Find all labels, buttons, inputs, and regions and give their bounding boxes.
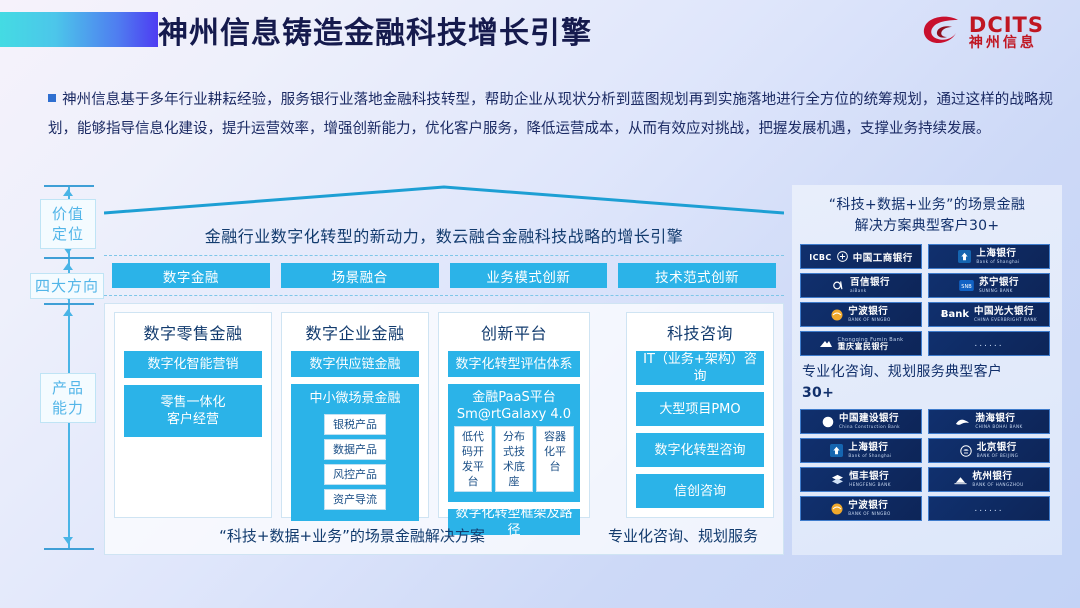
customer-logo-more-2[interactable]: ...... (928, 496, 1050, 521)
chip-risk-control-product[interactable]: 风控产品 (324, 464, 386, 485)
page-header: 神州信息铸造金融科技增长引擎 DCITS 神州信息 (0, 0, 1080, 72)
tile-it-business-architecture-consulting[interactable]: IT（业务+架构）咨询 (636, 351, 764, 385)
capability-column-retail: 数字零售金融 数字化智能营销 零售一体化 客户经营 (114, 312, 272, 518)
strategy-diagram: 金融行业数字化转型的新动力，数云融合金融科技战略的增长引擎 数字金融 场景融合 … (104, 185, 784, 555)
customer-logo-chongqing-fumin-bank[interactable]: Chongqing Fumin Bank 重庆富民银行 (800, 331, 922, 356)
ellipsis-placeholder-icon-2: ...... (974, 504, 1003, 514)
customer-logo-aibank[interactable]: 百信银行 aiBank (800, 273, 922, 298)
customer-name-bank-of-beijing: 北京银行 (977, 443, 1017, 453)
customer-name-ccb: 中国建设银行 (839, 414, 899, 424)
left-axis: 价值 定位 四大方向 产品 能力 (36, 185, 102, 550)
hengfeng-bank-logo-icon (831, 474, 844, 485)
bank-of-shanghai-logo-icon (958, 250, 971, 263)
capability-column-enterprise: 数字企业金融 数字供应链金融 中小微场景金融 银税产品 数据产品 风控产品 资产… (281, 312, 429, 518)
bullet-icon (48, 94, 56, 102)
logo-text-cn: 神州信息 (969, 36, 1044, 51)
brand-logo: DCITS 神州信息 (922, 14, 1044, 51)
tile-paas-line1: 金融PaaS平台 (452, 389, 576, 406)
customer-logo-bank-of-hangzhou[interactable]: 杭州银行 BANK OF HANGZHOU (928, 467, 1050, 492)
capability-column-tech-consulting: 科技咨询 IT（业务+架构）咨询 大型项目PMO 数字化转型咨询 信创咨询 (626, 312, 774, 518)
customer-en-suning-bank: SUNING BANK (979, 289, 1013, 293)
icbc-wordmark-icon: ICBC (809, 253, 831, 262)
dcits-swoosh-icon (922, 15, 962, 49)
chip-data-product[interactable]: 数据产品 (324, 439, 386, 460)
bank-of-ningbo-logo-icon-2 (831, 503, 843, 515)
roof-shape-icon (104, 185, 784, 215)
customer-en-hengfeng-bank: HENGFENG BANK (849, 483, 891, 487)
tile-retail-integrated-customer-ops[interactable]: 零售一体化 客户经营 (124, 385, 262, 437)
customer-en-bank-of-hangzhou: BANK OF HANGZHOU (972, 483, 1023, 487)
chongqing-fumin-bank-logo-icon (819, 339, 833, 349)
axis-label-product-capability: 产品 能力 (40, 373, 96, 423)
customer-panel: “科技+数据+业务”的场景金融 解决方案典型客户30+ ICBC 中国工商银行 … (792, 185, 1062, 555)
tile-sme-scenario-finance[interactable]: 中小微场景金融 银税产品 数据产品 风控产品 资产导流 (291, 384, 419, 521)
everbright-wordmark-icon: Ƀank (941, 309, 969, 320)
customer-logo-grid-1: ICBC 中国工商银行 上海银行 Bank of Shanghai 百信银行 a… (792, 244, 1062, 356)
customer-en-bank-of-beijing: BANK OF BEIJING (977, 454, 1019, 458)
customer-logo-icbc[interactable]: ICBC 中国工商银行 (800, 244, 922, 269)
bohai-bank-logo-icon (955, 417, 970, 427)
ccb-logo-icon (822, 416, 834, 428)
column-title-innovation-platform: 创新平台 (448, 320, 580, 344)
customer-logo-grid-2: 中国建设银行 China Construction Bank 渤海银行 CHIN… (792, 409, 1062, 521)
axis-tick-2 (44, 303, 94, 305)
axis-label-four-directions: 四大方向 (30, 273, 104, 299)
direction-button-0[interactable]: 数字金融 (112, 263, 270, 288)
bank-of-ningbo-logo-icon (831, 309, 843, 321)
customer-group1-title-l2: 解决方案典型客户30+ (800, 216, 1054, 237)
customer-name-bank-of-ningbo-1: 宁波银行 (848, 307, 888, 317)
customer-en-bank-of-ningbo-1: BANK OF NINGBO (848, 318, 890, 322)
customer-group1-title-l1: “科技+数据+业务”的场景金融 (800, 195, 1054, 216)
axis-label-product-capability-l2: 能力 (43, 398, 93, 418)
logo-text-en: DCITS (969, 14, 1044, 36)
customer-name-bohai-bank: 渤海银行 (975, 414, 1015, 424)
direction-button-1[interactable]: 场景融合 (281, 263, 439, 288)
tile-retail-line1: 零售一体化 (160, 394, 225, 411)
customer-en-ccb: China Construction Bank (839, 425, 900, 429)
customer-logo-bohai-bank[interactable]: 渤海银行 CHINA BOHAI BANK (928, 409, 1050, 434)
customer-en-bank-of-shanghai-1: Bank of Shanghai (976, 260, 1019, 264)
tile-large-project-pmo[interactable]: 大型项目PMO (636, 392, 764, 426)
chip-asset-routing[interactable]: 资产导流 (324, 489, 386, 510)
direction-button-3[interactable]: 技术范式创新 (618, 263, 776, 288)
axis-tick-1 (44, 185, 94, 187)
capability-columns: 数字零售金融 数字化智能营销 零售一体化 客户经营 数字企业金融 数字供应链金融… (114, 312, 776, 518)
svg-text:SNB: SNB (961, 284, 972, 290)
page-title: 神州信息铸造金融科技增长引擎 (158, 8, 592, 52)
customer-name-bank-of-shanghai-1: 上海银行 (976, 249, 1016, 259)
customer-logo-ccb[interactable]: 中国建设银行 China Construction Bank (800, 409, 922, 434)
arrow-down-icon-3 (63, 537, 73, 544)
caption-consulting-service: 专业化咨询、规划服务 (590, 525, 776, 546)
axis-label-product-capability-l1: 产品 (43, 378, 93, 398)
customer-group2-title: 专业化咨询、规划服务典型客户 30+ (792, 356, 1062, 409)
customer-en-bohai-bank: CHINA BOHAI BANK (975, 425, 1022, 429)
axis-label-value-positioning-l2: 定位 (43, 224, 93, 244)
customer-logo-hengfeng-bank[interactable]: 恒丰银行 HENGFENG BANK (800, 467, 922, 492)
chip-lowcode-dev-platform[interactable]: 低代码开发平台 (454, 426, 492, 492)
customer-name-chongqing-fumin-bank: 重庆富民银行 (838, 343, 889, 351)
capability-panel: 数字零售金融 数字化智能营销 零售一体化 客户经营 数字企业金融 数字供应链金融… (104, 303, 784, 555)
customer-group1-title: “科技+数据+业务”的场景金融 解决方案典型客户30+ (792, 185, 1062, 244)
customer-name-everbright-bank: 中国光大银行 (974, 307, 1034, 317)
tile-digital-transformation-consulting[interactable]: 数字化转型咨询 (636, 433, 764, 467)
customer-logo-bank-of-ningbo-2[interactable]: 宁波银行 BANK OF NINGBO (800, 496, 922, 521)
tile-transformation-assessment-system[interactable]: 数字化转型评估体系 (448, 351, 580, 377)
diagram-headline: 金融行业数字化转型的新动力，数云融合金融科技战略的增长引擎 (104, 223, 784, 247)
chip-distributed-tech-base[interactable]: 分布式技术底座 (495, 426, 533, 492)
customer-logo-suning-bank[interactable]: SNB 苏宁银行 SUNING BANK (928, 273, 1050, 298)
icbc-logo-icon (837, 251, 848, 262)
customer-en-bank-of-ningbo-2: BANK OF NINGBO (848, 512, 890, 516)
direction-button-2[interactable]: 业务模式创新 (450, 263, 608, 288)
suning-bank-logo-icon: SNB (959, 280, 974, 291)
panel-captions: “科技+数据+业务”的场景金融解决方案 专业化咨询、规划服务 (114, 525, 776, 546)
bank-of-beijing-logo-icon (960, 445, 972, 457)
axis-label-value-positioning: 价值 定位 (40, 199, 96, 249)
customer-group2-title-l2: 30+ (802, 383, 1054, 404)
customer-name-hengfeng-bank: 恒丰银行 (849, 472, 889, 482)
tile-paas-line2: Sm@rtGalaxy 4.0 (452, 406, 576, 423)
ellipsis-placeholder-icon-1: ...... (974, 339, 1003, 349)
intro-paragraph: 神州信息基于多年行业耕耘经验，服务银行业落地金融科技转型，帮助企业从现状分析到蓝… (48, 86, 1053, 144)
tile-digital-smart-marketing[interactable]: 数字化智能营销 (124, 351, 262, 378)
divider-dashed-2 (104, 295, 784, 296)
arrow-up-icon-1 (63, 189, 73, 196)
customer-name-suning-bank: 苏宁银行 (979, 278, 1019, 288)
tile-financial-paas-platform[interactable]: 金融PaaS平台 Sm@rtGalaxy 4.0 低代码开发平台 分布式技术底座… (448, 384, 580, 502)
intro-text: 神州信息基于多年行业耕耘经验，服务银行业落地金融科技转型，帮助企业从现状分析到蓝… (48, 92, 1053, 137)
customer-logo-more-1[interactable]: ...... (928, 331, 1050, 356)
axis-tick-bottom (44, 548, 94, 550)
bank-of-shanghai-logo-icon-2 (830, 444, 843, 457)
chip-containerization-platform[interactable]: 容器化平台 (536, 426, 574, 492)
axis-tick-1b (44, 257, 94, 259)
column-title-tech-consulting: 科技咨询 (636, 320, 764, 344)
tile-retail-line2: 客户经营 (167, 411, 219, 428)
column-title-enterprise: 数字企业金融 (291, 320, 419, 344)
customer-name-bank-of-hangzhou: 杭州银行 (972, 472, 1012, 482)
direction-button-row: 数字金融 场景融合 业务模式创新 技术范式创新 (112, 263, 776, 288)
axis-label-value-positioning-l1: 价值 (43, 204, 93, 224)
customer-group2-title-l1: 专业化咨询、规划服务典型客户 (802, 362, 1054, 383)
customer-en-everbright-bank: CHINA EVERBRIGHT BANK (974, 318, 1037, 322)
customer-logo-bank-of-shanghai-2[interactable]: 上海银行 Bank of Shanghai (800, 438, 922, 463)
tile-xinchuang-consulting[interactable]: 信创咨询 (636, 474, 764, 508)
customer-logo-bank-of-beijing[interactable]: 北京银行 BANK OF BEIJING (928, 438, 1050, 463)
divider-dashed-1 (104, 255, 784, 256)
customer-logo-bank-of-ningbo-1[interactable]: 宁波银行 BANK OF NINGBO (800, 302, 922, 327)
title-accent-bar (0, 12, 158, 47)
customer-logo-bank-of-shanghai-1[interactable]: 上海银行 Bank of Shanghai (928, 244, 1050, 269)
arrow-up-icon-2 (63, 263, 73, 270)
customer-name-bank-of-shanghai-2: 上海银行 (848, 443, 888, 453)
customer-name-aibank: 百信银行 (850, 278, 890, 288)
customer-en-bank-of-shanghai-2: Bank of Shanghai (848, 454, 891, 458)
tile-digital-supply-chain-finance[interactable]: 数字供应链金融 (291, 351, 419, 377)
customer-logo-everbright-bank[interactable]: Ƀank 中国光大银行 CHINA EVERBRIGHT BANK (928, 302, 1050, 327)
customer-en-aibank: aiBank (850, 289, 867, 293)
tile-sme-label: 中小微场景金融 (295, 390, 415, 407)
arrow-up-icon-3 (63, 309, 73, 316)
capability-column-innovation-platform: 创新平台 数字化转型评估体系 金融PaaS平台 Sm@rtGalaxy 4.0 … (438, 312, 590, 518)
customer-name-bank-of-ningbo-2: 宁波银行 (848, 501, 888, 511)
bank-of-hangzhou-logo-icon (954, 475, 967, 485)
column-title-retail: 数字零售金融 (124, 320, 262, 344)
paas-chip-grid: 低代码开发平台 分布式技术底座 容器化平台 (452, 423, 576, 497)
aibank-logo-icon (832, 279, 845, 292)
caption-scenario-finance-solution: “科技+数据+业务”的场景金融解决方案 (114, 525, 590, 546)
sme-chip-grid: 银税产品 数据产品 风控产品 资产导流 (295, 411, 415, 515)
customer-name-icbc: 中国工商银行 (853, 250, 913, 264)
chip-tax-bank-product[interactable]: 银税产品 (324, 414, 386, 435)
